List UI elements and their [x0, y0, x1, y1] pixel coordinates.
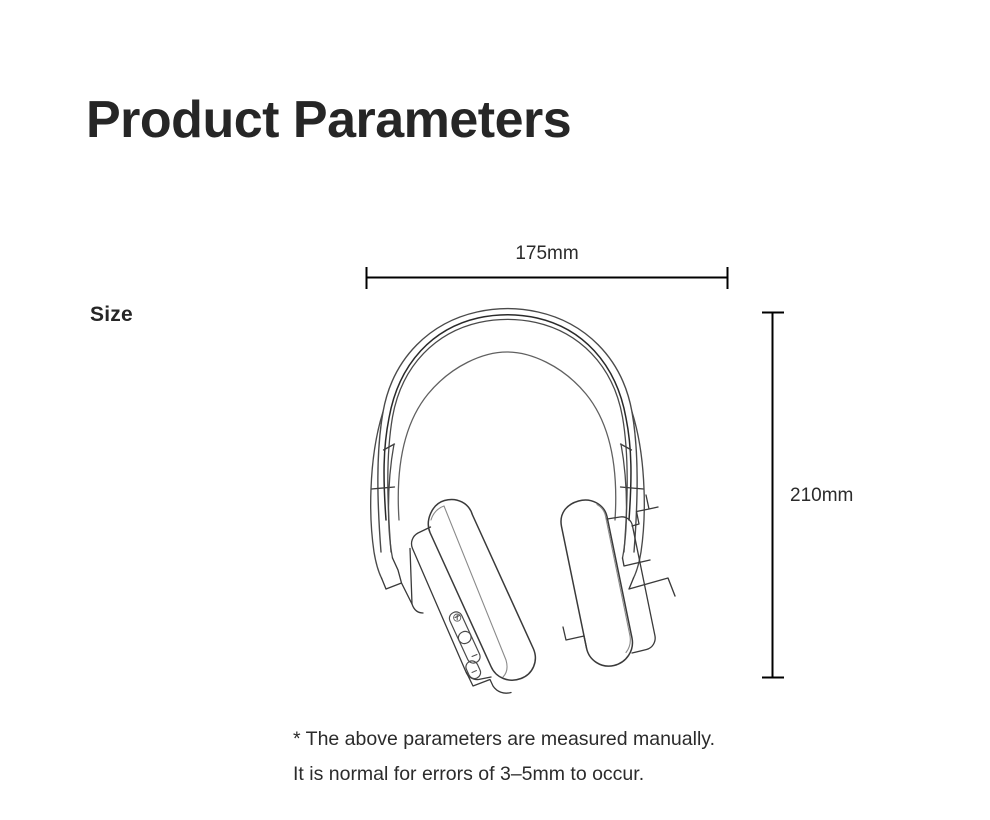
- right-earcup-side-panel: [607, 517, 655, 653]
- volume-up-icon-ring: [454, 614, 461, 621]
- volume-up-icon: [455, 615, 460, 620]
- left-earcup-bottom-step: [467, 673, 512, 694]
- dimension-width-value: 175mm: [365, 243, 729, 265]
- footnote-line-2: It is normal for errors of 3–5mm to occu…: [293, 757, 715, 792]
- volume-down-button: [458, 631, 480, 663]
- left-earcup-pad-seam: [431, 506, 507, 677]
- right-arm-outer-extension-2: [621, 444, 627, 558]
- right-earcup-pad-seam: [597, 505, 630, 653]
- headband-outer-inner-edge: [388, 319, 627, 552]
- right-yoke: [623, 558, 676, 596]
- right-earcup-yoke-joint: [632, 495, 658, 526]
- right-earcup-bottom-step: [563, 627, 587, 648]
- headband-outer-edge: [378, 309, 637, 552]
- page-title: Product Parameters: [86, 93, 571, 148]
- right-arm-divider-upper: [621, 444, 632, 450]
- headband-core-line: [384, 315, 631, 520]
- left-earcup-side-panel: [412, 527, 491, 680]
- footnote: * The above parameters are measured manu…: [293, 722, 715, 792]
- left-arm-outer-extension-2: [389, 444, 395, 558]
- charging-port-slot: [472, 671, 477, 673]
- charging-port: [466, 661, 481, 679]
- dimension-line-width: [366, 267, 728, 289]
- product-parameters-page: Product Parameters Size 175mm 210mm * Th…: [0, 0, 990, 820]
- dimension-height-value: 210mm: [790, 485, 853, 507]
- left-yoke: [382, 558, 413, 604]
- left-arm-outer-extension: [371, 412, 383, 578]
- left-earcup-controls: [449, 612, 480, 679]
- left-earcup-body: [428, 500, 535, 681]
- spec-row-label-size: Size: [90, 303, 133, 327]
- left-arm-divider-lower: [372, 487, 395, 489]
- right-arm-outer-extension: [632, 412, 644, 578]
- volume-up-button: [449, 612, 471, 644]
- right-arm-divider-lower: [621, 487, 644, 489]
- headphones-illustration: [371, 309, 675, 694]
- headband-cushion: [398, 352, 616, 520]
- left-arm-divider-upper: [384, 444, 395, 450]
- volume-down-icon: [472, 655, 477, 657]
- footnote-line-1: * The above parameters are measured manu…: [293, 722, 715, 757]
- dimension-line-height: [762, 312, 784, 678]
- left-earcup-yoke-joint: [410, 549, 423, 614]
- right-earcup-body: [561, 500, 632, 666]
